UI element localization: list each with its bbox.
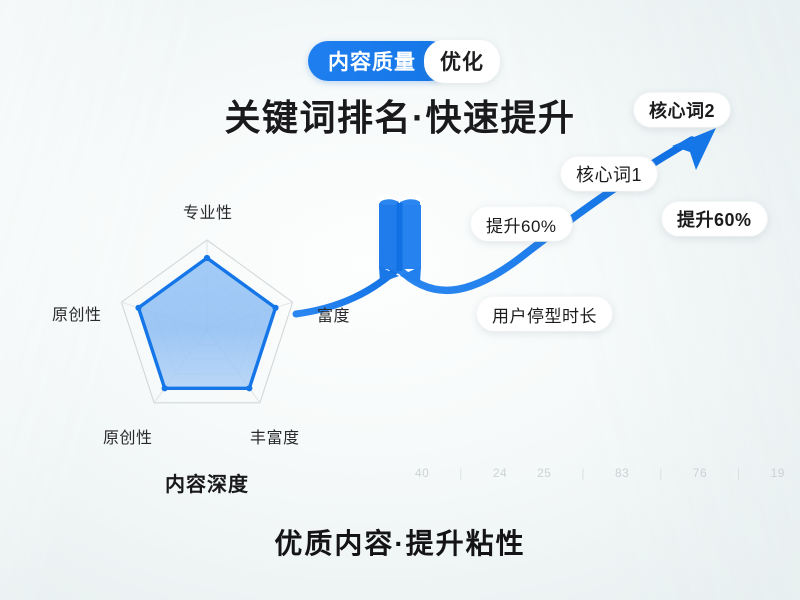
tick-0: 40 <box>415 466 429 480</box>
annotation-core-keyword-1[interactable]: 核心词1 <box>561 157 657 191</box>
annotation-uplift-left[interactable]: 提升60% <box>471 207 572 241</box>
baseline-tick-row: 40 | 24 25 | 83 | 76 | 19 <box>415 466 785 480</box>
annotation-uplift-right[interactable]: 提升60% <box>662 202 767 236</box>
tick-6: | <box>659 466 663 480</box>
annotation-core-keyword-2[interactable]: 核心词2 <box>634 93 730 127</box>
tick-3: 25 <box>537 466 551 480</box>
badge-secondary-label[interactable]: 优化 <box>424 40 500 83</box>
header-badge[interactable]: 内容质量 优化 <box>308 41 500 81</box>
tick-8: | <box>737 466 741 480</box>
tick-7: 76 <box>693 466 707 480</box>
tick-9: 19 <box>771 466 785 480</box>
tick-5: 83 <box>615 466 629 480</box>
book-icon <box>376 195 424 283</box>
annotation-dwell-time[interactable]: 用户停型时长 <box>477 297 612 331</box>
page-subtitle: 优质内容·提升粘性 <box>0 522 800 562</box>
tick-4: | <box>581 466 585 480</box>
tick-2: 24 <box>493 466 507 480</box>
content-depth-label: 内容深度 <box>165 468 249 497</box>
tick-1: | <box>459 466 463 480</box>
poster-canvas: 专业性 富度 丰富度 原创性 原创性 内容质量 优化 <box>0 0 800 600</box>
